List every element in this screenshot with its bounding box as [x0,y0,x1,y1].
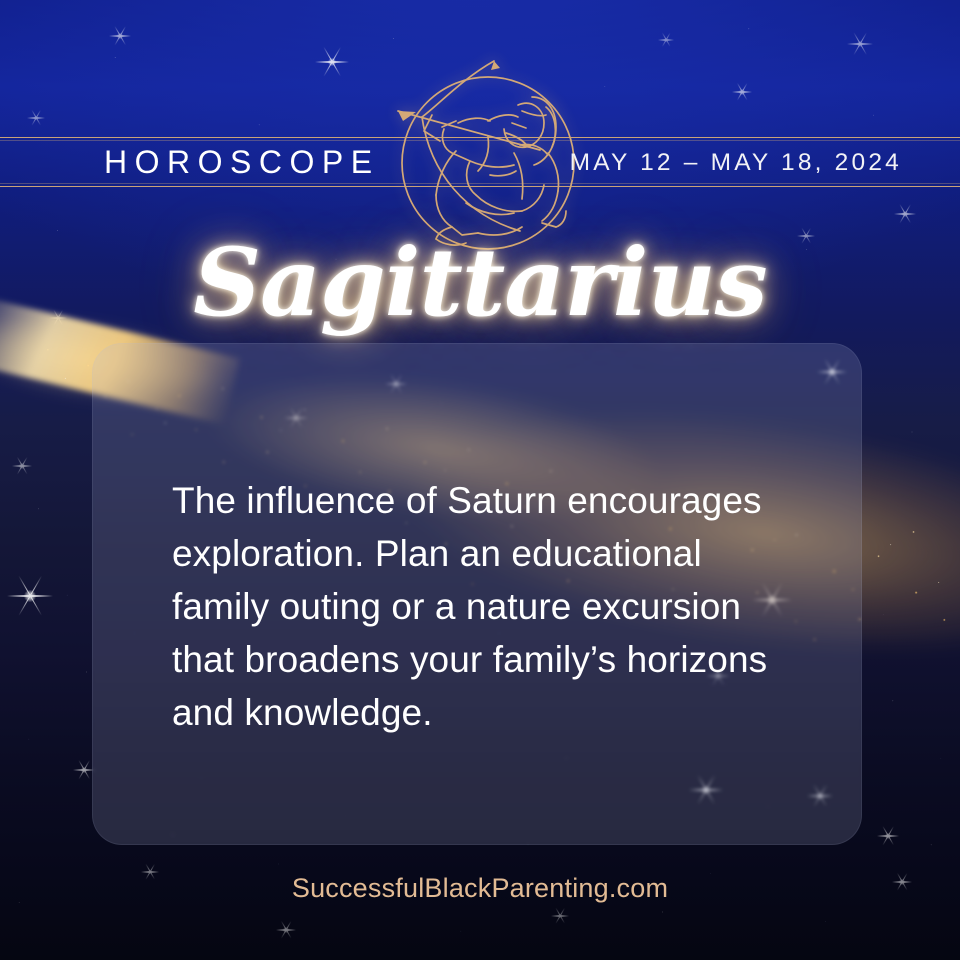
sparkle-star-icon [732,82,752,102]
sparkle-star-icon [109,25,131,47]
sparkle-star-icon [276,920,296,940]
horoscope-poster: HOROSCOPE MAY 12 – MAY 18, 2024 Sagittar… [0,0,960,960]
sparkle-star-icon [27,109,45,127]
sparkle-star-icon [894,203,916,225]
sparkle-star-icon [12,456,32,476]
website-footer: SuccessfulBlackParenting.com [0,873,960,904]
sparkle-star-icon [658,32,674,48]
sparkle-star-icon [877,825,899,847]
sparkle-star-icon [315,45,349,79]
zodiac-sign-name: Sagittarius [0,236,960,330]
reading-text: The influence of Saturn encourages explo… [172,474,772,739]
sparkle-star-icon [551,907,569,925]
header-title: HOROSCOPE [104,140,380,184]
sparkle-star-icon [7,573,53,619]
date-range-label: MAY 12 – MAY 18, 2024 [570,143,902,183]
sparkle-star-icon [847,31,873,57]
